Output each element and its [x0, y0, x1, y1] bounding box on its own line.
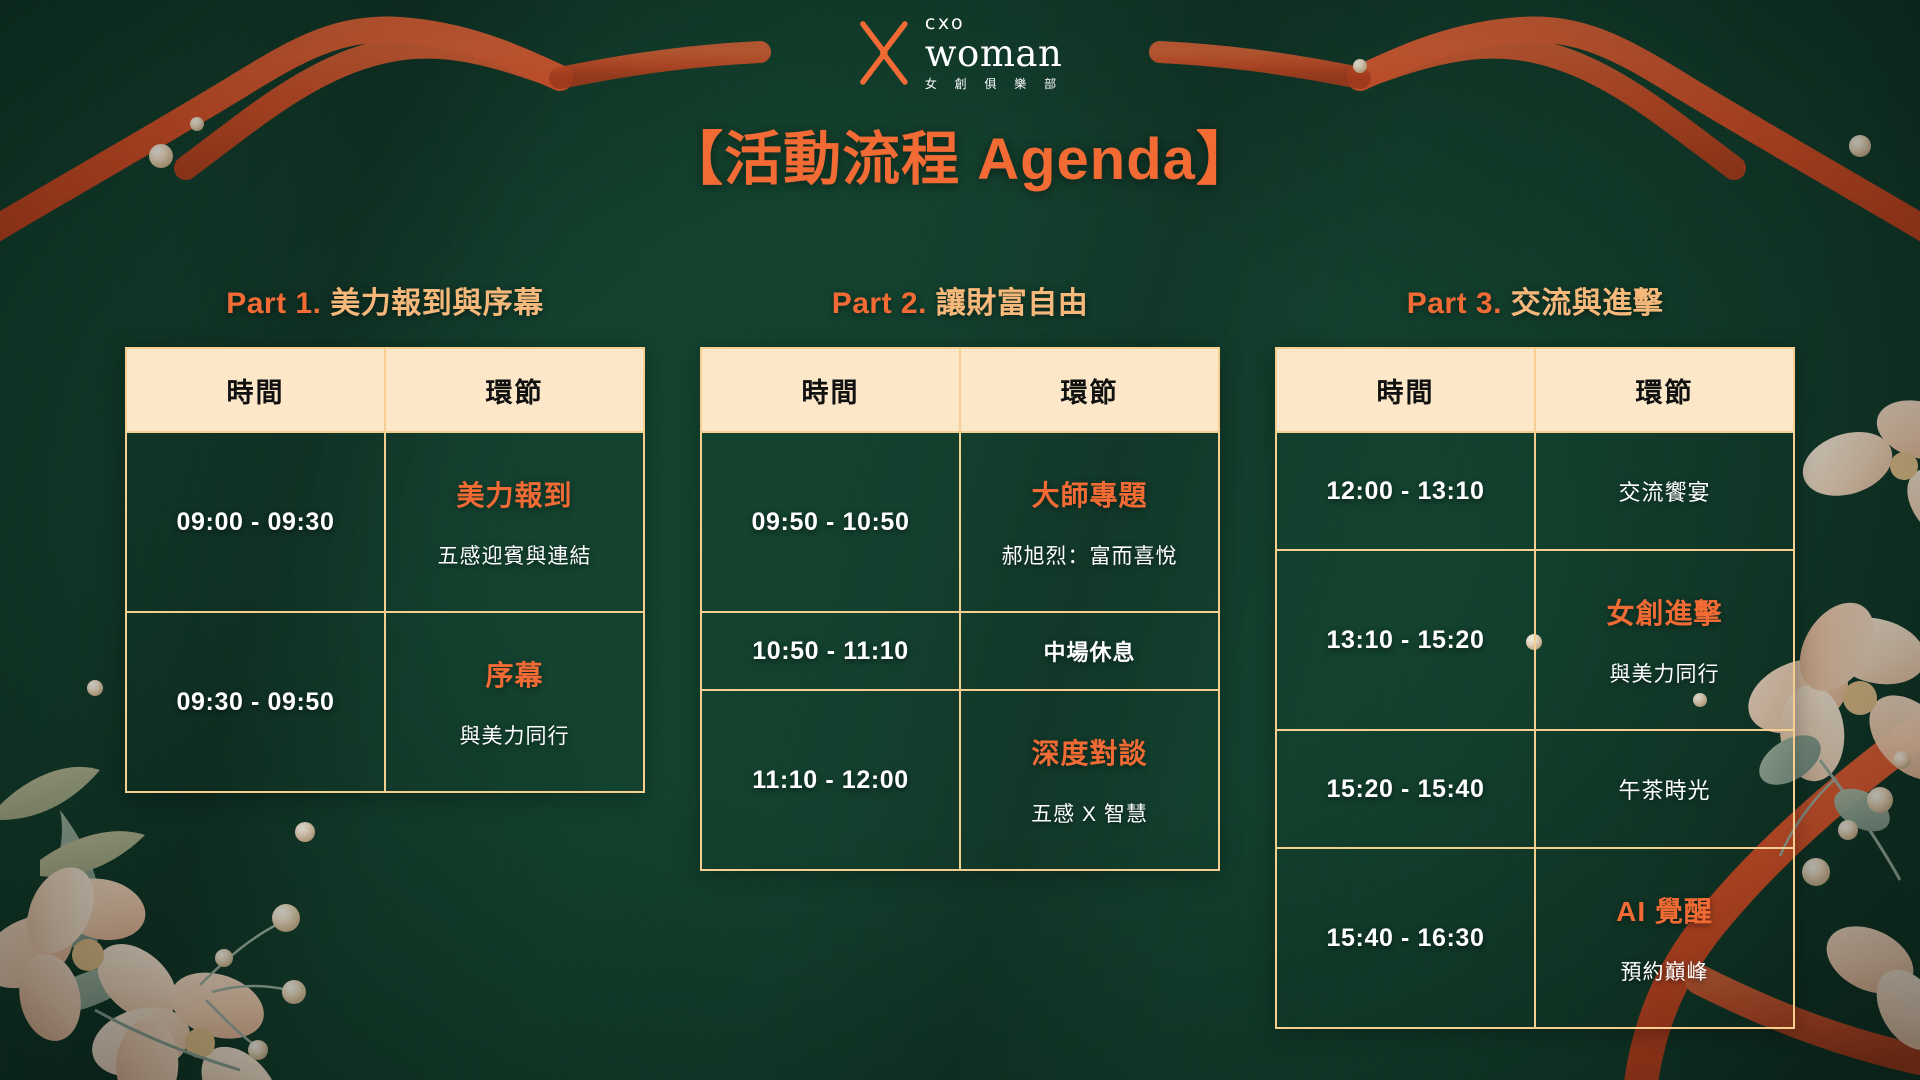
part-label: Part 2. — [832, 287, 936, 320]
table-header-row: 時間環節 — [126, 348, 644, 432]
segment-subtitle: 預約巔峰 — [1536, 956, 1793, 986]
table-row: 09:00 - 09:30美力報到五感迎賓與連結 — [126, 432, 644, 612]
cxo-woman-logo-mark-icon — [857, 20, 911, 86]
cell-segment: 中場休息 — [960, 612, 1219, 690]
column-header-time: 時間 — [126, 348, 385, 432]
part-title-2: Part 2. 讓財富自由 — [832, 278, 1089, 322]
table-header-row: 時間環節 — [1276, 348, 1794, 432]
agenda-column-1: Part 1. 美力報到與序幕時間環節09:00 - 09:30美力報到五感迎賓… — [125, 278, 645, 1029]
cell-segment: 序幕與美力同行 — [385, 612, 644, 792]
cell-time: 09:50 - 10:50 — [701, 432, 960, 612]
segment-subtitle: 五感 X 智慧 — [961, 798, 1218, 828]
cell-time: 12:00 - 13:10 — [1276, 432, 1535, 550]
cell-time: 11:10 - 12:00 — [701, 690, 960, 870]
agenda-table-3: 時間環節12:00 - 13:10交流饗宴13:10 - 15:20女創進擊與美… — [1275, 347, 1795, 1029]
column-header-segment: 環節 — [960, 348, 1219, 432]
cell-time: 09:00 - 09:30 — [126, 432, 385, 612]
cell-time: 09:30 - 09:50 — [126, 612, 385, 792]
segment-subtitle: 與美力同行 — [1536, 658, 1793, 688]
segment-subtitle: 五感迎賓與連結 — [386, 540, 643, 570]
table-row: 15:20 - 15:40午茶時光 — [1276, 730, 1794, 848]
table-row: 13:10 - 15:20女創進擊與美力同行 — [1276, 550, 1794, 730]
cell-segment: 女創進擊與美力同行 — [1535, 550, 1794, 730]
segment-title: 序幕 — [386, 654, 643, 694]
table-row: 10:50 - 11:10中場休息 — [701, 612, 1219, 690]
agenda-column-3: Part 3. 交流與進擊時間環節12:00 - 13:10交流饗宴13:10 … — [1275, 278, 1795, 1029]
segment-title: 中場休息 — [971, 635, 1208, 667]
table-header-row: 時間環節 — [701, 348, 1219, 432]
segment-title: 深度對談 — [961, 732, 1218, 772]
agenda-poster: cxo woman 女 創 俱 樂 部 【活動流程 Agenda】 Part 1… — [0, 0, 1920, 1080]
segment-title: 美力報到 — [386, 474, 643, 514]
segment-title: 交流饗宴 — [1546, 475, 1783, 507]
segment-title: 午茶時光 — [1546, 773, 1783, 805]
page-title: 【活動流程 Agenda】 — [0, 112, 1920, 196]
agenda-columns: Part 1. 美力報到與序幕時間環節09:00 - 09:30美力報到五感迎賓… — [0, 278, 1920, 1029]
segment-title: 大師專題 — [961, 474, 1218, 514]
part-title-3: Part 3. 交流與進擊 — [1407, 278, 1664, 322]
part-label: Part 3. — [1407, 287, 1511, 320]
cell-segment: 大師專題郝旭烈：富而喜悅 — [960, 432, 1219, 612]
agenda-table-2: 時間環節09:50 - 10:50大師專題郝旭烈：富而喜悅10:50 - 11:… — [700, 347, 1220, 871]
agenda-column-2: Part 2. 讓財富自由時間環節09:50 - 10:50大師專題郝旭烈：富而… — [700, 278, 1220, 1029]
brand-logo: cxo woman 女 創 俱 樂 部 — [857, 14, 1063, 92]
column-header-time: 時間 — [1276, 348, 1535, 432]
segment-subtitle: 郝旭烈：富而喜悅 — [961, 540, 1218, 570]
table-row: 12:00 - 13:10交流饗宴 — [1276, 432, 1794, 550]
cell-time: 15:40 - 16:30 — [1276, 848, 1535, 1028]
part-label: Part 1. — [226, 287, 330, 320]
logo-subtitle-text: 女 創 俱 樂 部 — [925, 75, 1063, 92]
table-row: 15:40 - 16:30AI 覺醒預約巔峰 — [1276, 848, 1794, 1028]
segment-title: AI 覺醒 — [1536, 890, 1793, 930]
column-header-time: 時間 — [701, 348, 960, 432]
table-row: 09:50 - 10:50大師專題郝旭烈：富而喜悅 — [701, 432, 1219, 612]
cell-time: 10:50 - 11:10 — [701, 612, 960, 690]
cell-time: 15:20 - 15:40 — [1276, 730, 1535, 848]
cell-segment: 美力報到五感迎賓與連結 — [385, 432, 644, 612]
logo-woman-text: woman — [925, 35, 1062, 72]
segment-title: 女創進擊 — [1536, 592, 1793, 632]
segment-subtitle: 與美力同行 — [386, 720, 643, 750]
cell-segment: 午茶時光 — [1535, 730, 1794, 848]
part-name: 讓財富自由 — [936, 287, 1089, 320]
column-header-segment: 環節 — [1535, 348, 1794, 432]
table-row: 09:30 - 09:50序幕與美力同行 — [126, 612, 644, 792]
agenda-table-1: 時間環節09:00 - 09:30美力報到五感迎賓與連結09:30 - 09:5… — [125, 347, 645, 793]
logo-cxo-text: cxo — [925, 14, 965, 34]
part-title-1: Part 1. 美力報到與序幕 — [226, 278, 544, 322]
cell-segment: AI 覺醒預約巔峰 — [1535, 848, 1794, 1028]
cell-time: 13:10 - 15:20 — [1276, 550, 1535, 730]
part-name: 美力報到與序幕 — [330, 287, 544, 320]
table-row: 11:10 - 12:00深度對談五感 X 智慧 — [701, 690, 1219, 870]
column-header-segment: 環節 — [385, 348, 644, 432]
cell-segment: 深度對談五感 X 智慧 — [960, 690, 1219, 870]
part-name: 交流與進擊 — [1511, 287, 1664, 320]
cell-segment: 交流饗宴 — [1535, 432, 1794, 550]
